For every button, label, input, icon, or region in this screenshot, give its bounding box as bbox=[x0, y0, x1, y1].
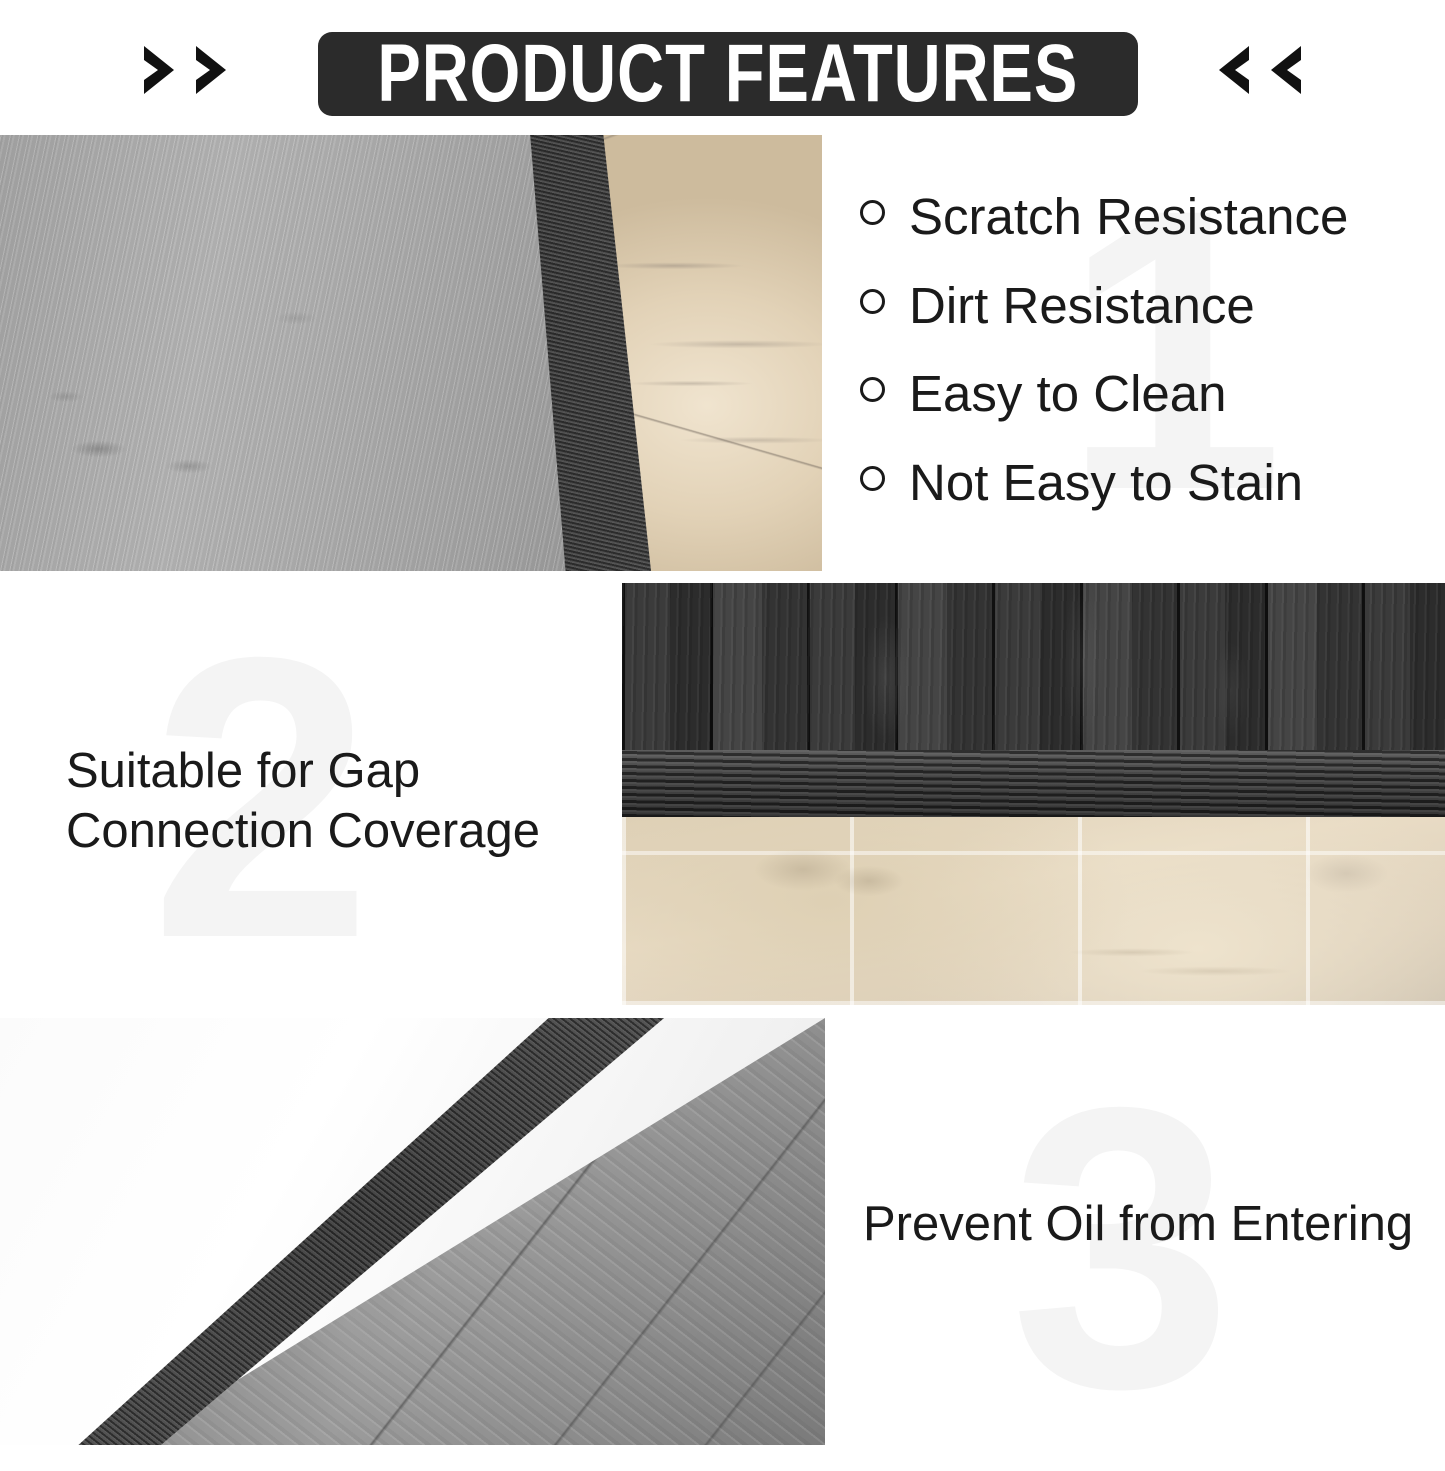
feature-photo-2 bbox=[622, 583, 1445, 1005]
feature-caption-line: Connection Coverage bbox=[66, 802, 606, 862]
photo2-transition-strip bbox=[622, 750, 1445, 820]
feature-label: Scratch Resistance bbox=[909, 190, 1348, 244]
chevron-left-icon-2 bbox=[1267, 44, 1305, 96]
bullet-circle-icon bbox=[860, 200, 885, 225]
double-chevron-right-icon bbox=[140, 44, 230, 96]
photo2-tile-texture bbox=[622, 817, 1445, 1005]
feature-label: Not Easy to Stain bbox=[909, 456, 1303, 510]
feature-label: Dirt Resistance bbox=[909, 279, 1255, 333]
bullet-circle-icon bbox=[860, 377, 885, 402]
photo2-plank-grain bbox=[622, 583, 1445, 756]
feature-label: Easy to Clean bbox=[909, 367, 1227, 421]
feature-list-item: Dirt Resistance bbox=[860, 279, 1420, 333]
chevron-right-icon-1 bbox=[140, 44, 178, 96]
feature-caption-line: Suitable for Gap bbox=[66, 742, 606, 802]
page-title: PRODUCT FEATURES bbox=[378, 32, 1079, 113]
chevron-left-icon-1 bbox=[1215, 44, 1253, 96]
header: PRODUCT FEATURES bbox=[0, 0, 1445, 135]
bullet-circle-icon bbox=[860, 466, 885, 491]
feature-list-panel: Scratch Resistance Dirt Resistance Easy … bbox=[860, 190, 1420, 509]
bullet-circle-icon bbox=[860, 289, 885, 314]
feature-list-item: Scratch Resistance bbox=[860, 190, 1420, 244]
feature-list-item: Easy to Clean bbox=[860, 367, 1420, 421]
feature-caption-panel-3: Prevent Oil from Entering bbox=[863, 1195, 1433, 1255]
feature-caption-panel-2: Suitable for Gap Connection Coverage bbox=[66, 742, 606, 862]
double-chevron-left-icon bbox=[1215, 44, 1305, 96]
chevron-right-icon-2 bbox=[192, 44, 230, 96]
feature-list-item: Not Easy to Stain bbox=[860, 456, 1420, 510]
feature-list: Scratch Resistance Dirt Resistance Easy … bbox=[860, 190, 1420, 509]
page-title-plate: PRODUCT FEATURES bbox=[318, 32, 1138, 116]
product-features-infographic: PRODUCT FEATURES 1 2 3 bbox=[0, 0, 1445, 1445]
feature-photo-3 bbox=[0, 1018, 825, 1445]
feature-photo-1 bbox=[0, 135, 822, 571]
feature-caption-line: Prevent Oil from Entering bbox=[863, 1195, 1433, 1255]
